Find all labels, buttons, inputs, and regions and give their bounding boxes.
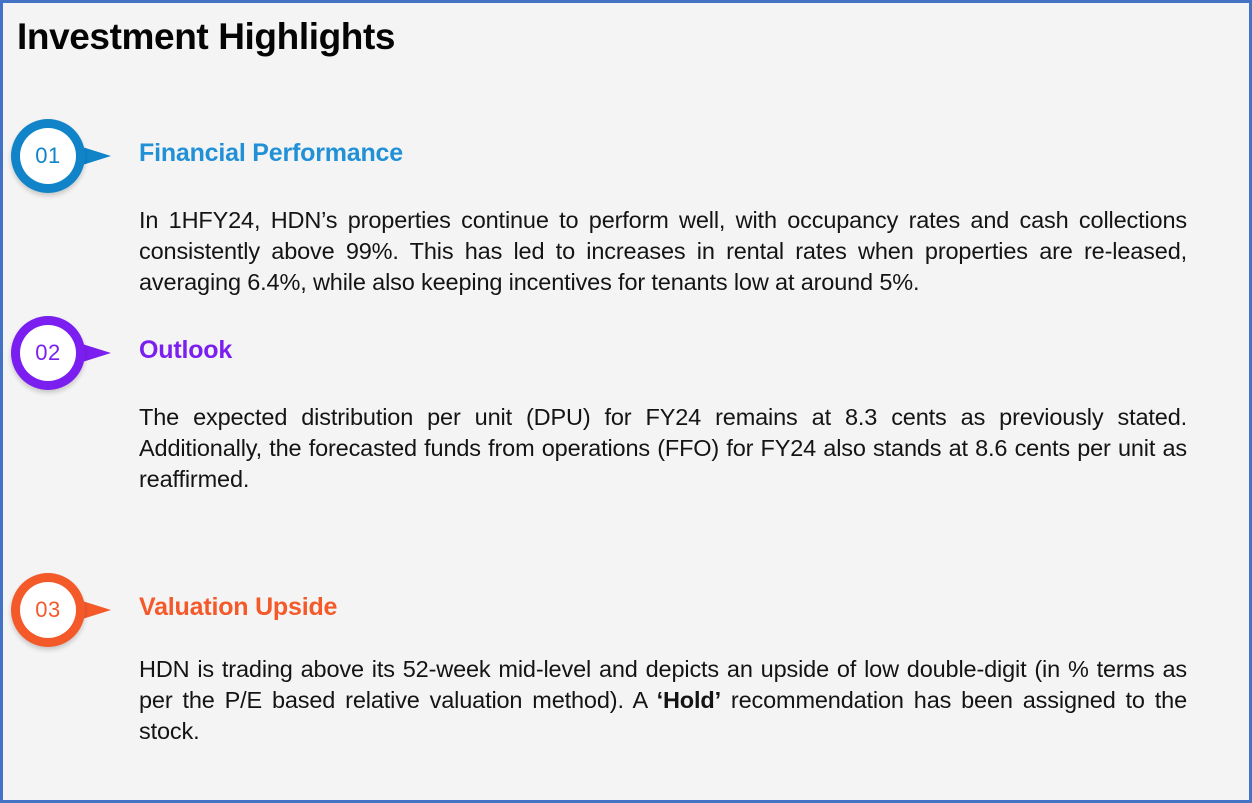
number-badge-02: 02 bbox=[11, 316, 115, 390]
page-title: Investment Highlights bbox=[17, 15, 395, 59]
number-badge-01: 01 bbox=[11, 119, 115, 193]
section-body-valuation-upside: HDN is trading above its 52-week mid-lev… bbox=[3, 654, 1249, 747]
investment-highlights-slide: Investment Highlights 01 Financial Perfo… bbox=[0, 0, 1252, 803]
section-header: 02 Outlook bbox=[3, 316, 1249, 390]
highlight-section-financial-performance: 01 Financial Performance In 1HFY24, HDN’… bbox=[3, 119, 1249, 298]
badge-ring: 01 bbox=[11, 119, 85, 193]
badge-ring: 03 bbox=[11, 573, 85, 647]
highlight-section-valuation-upside: 03 Valuation Upside HDN is trading above… bbox=[3, 573, 1249, 747]
badge-number-label: 01 bbox=[35, 145, 60, 167]
badge-number-label: 02 bbox=[35, 342, 60, 364]
section-body-financial-performance: In 1HFY24, HDN’s properties continue to … bbox=[3, 205, 1249, 298]
section-title-outlook: Outlook bbox=[139, 334, 232, 366]
badge-inner-circle: 03 bbox=[20, 582, 76, 638]
badge-inner-circle: 01 bbox=[20, 128, 76, 184]
section-body-outlook: The expected distribution per unit (DPU)… bbox=[3, 402, 1249, 495]
section-title-financial-performance: Financial Performance bbox=[139, 137, 403, 169]
number-badge-03: 03 bbox=[11, 573, 115, 647]
badge-number-label: 03 bbox=[35, 599, 60, 621]
highlights-list: 01 Financial Performance In 1HFY24, HDN’… bbox=[3, 119, 1249, 747]
section-header: 01 Financial Performance bbox=[3, 119, 1249, 193]
highlight-section-outlook: 02 Outlook The expected distribution per… bbox=[3, 316, 1249, 495]
badge-ring: 02 bbox=[11, 316, 85, 390]
badge-inner-circle: 02 bbox=[20, 325, 76, 381]
section-title-valuation-upside: Valuation Upside bbox=[139, 591, 337, 623]
section-header: 03 Valuation Upside bbox=[3, 573, 1249, 647]
